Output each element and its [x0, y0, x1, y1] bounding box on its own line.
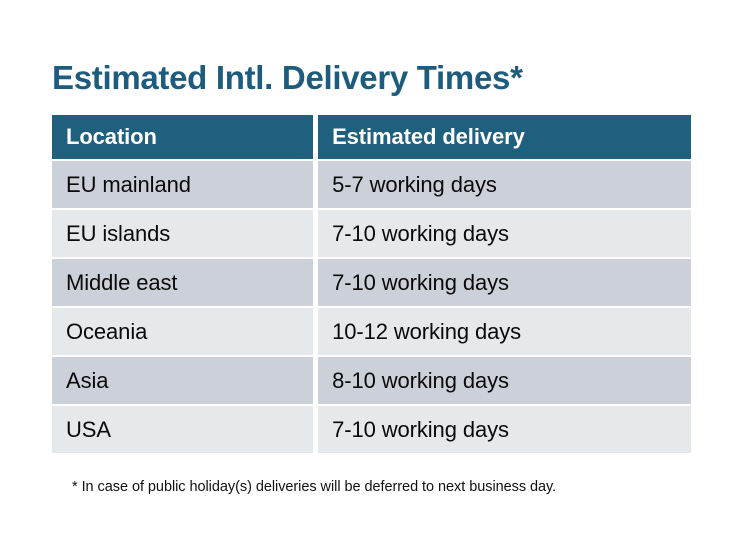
column-header-location: Location	[52, 115, 318, 159]
table-row: Oceania 10-12 working days	[52, 306, 691, 355]
table-row: USA 7-10 working days	[52, 404, 691, 453]
cell-location: Oceania	[52, 306, 318, 355]
cell-estimated-delivery: 8-10 working days	[318, 355, 691, 404]
cell-location: EU islands	[52, 208, 318, 257]
cell-location: USA	[52, 404, 318, 453]
table-row: EU mainland 5-7 working days	[52, 159, 691, 208]
cell-estimated-delivery: 5-7 working days	[318, 159, 691, 208]
table-body: EU mainland 5-7 working days EU islands …	[52, 159, 691, 453]
cell-estimated-delivery: 10-12 working days	[318, 306, 691, 355]
cell-estimated-delivery: 7-10 working days	[318, 257, 691, 306]
table-row: Middle east 7-10 working days	[52, 257, 691, 306]
cell-location: Asia	[52, 355, 318, 404]
delivery-times-page: Estimated Intl. Delivery Times* Location…	[0, 0, 745, 536]
table-row: EU islands 7-10 working days	[52, 208, 691, 257]
page-title: Estimated Intl. Delivery Times*	[52, 58, 523, 98]
cell-estimated-delivery: 7-10 working days	[318, 404, 691, 453]
cell-location: Middle east	[52, 257, 318, 306]
table-header: Location Estimated delivery	[52, 115, 691, 159]
table-row: Asia 8-10 working days	[52, 355, 691, 404]
cell-location: EU mainland	[52, 159, 318, 208]
column-header-estimated-delivery: Estimated delivery	[318, 115, 691, 159]
table-header-row: Location Estimated delivery	[52, 115, 691, 159]
estimated-delivery-times-table: Location Estimated delivery EU mainland …	[52, 115, 691, 453]
cell-estimated-delivery: 7-10 working days	[318, 208, 691, 257]
footnote-text: * In case of public holiday(s) deliverie…	[72, 479, 556, 495]
